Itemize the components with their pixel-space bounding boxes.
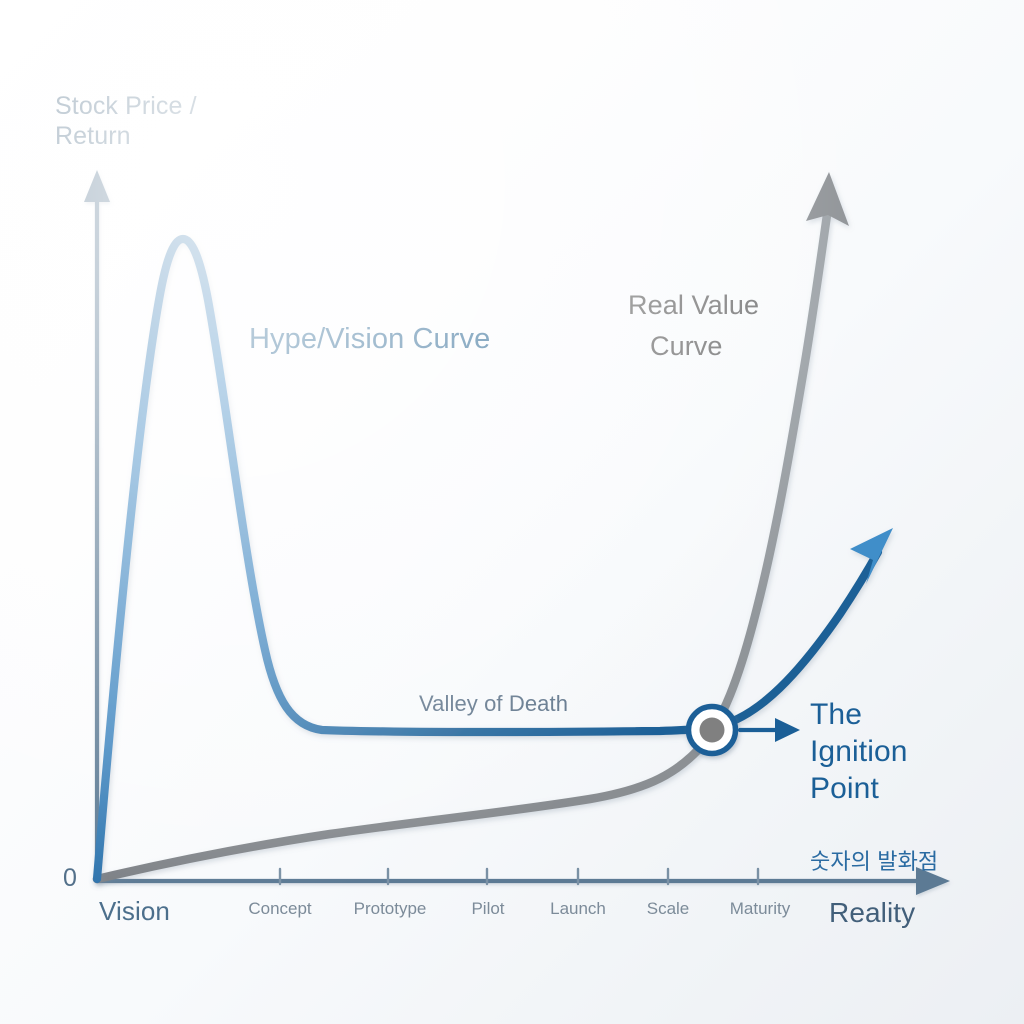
- x-tick-label-scale: Scale: [647, 899, 690, 919]
- ignition-point-annotation: The Ignition Point 숫자의 발화점: [810, 659, 938, 913]
- real-value-curve-label-line1: Real Value: [628, 290, 759, 320]
- real-value-curve: [97, 172, 849, 879]
- x-tick-label-launch: Launch: [550, 899, 606, 919]
- y-axis-title: Stock Price / Return: [55, 92, 197, 151]
- hype-vision-curve-arrowhead: [850, 528, 893, 584]
- x-tick-label-concept: Concept: [248, 899, 311, 919]
- real-value-curve-label: Real ValueCurve: [628, 285, 759, 366]
- origin-zero-label: 0: [63, 864, 77, 894]
- hype-curve-label: Hype/Vision Curve: [249, 322, 490, 356]
- real-value-curve-label-line2: Curve: [628, 326, 759, 367]
- ignition-callout-arrowhead: [775, 718, 800, 742]
- ignition-point-title: The Ignition Point: [810, 697, 938, 808]
- ignition-point-core-dot: [700, 718, 725, 743]
- y-axis-arrowhead: [84, 170, 110, 202]
- x-tick-label-pilot: Pilot: [471, 899, 504, 919]
- ignition-point-marker[interactable]: [689, 707, 736, 754]
- x-tick-label-prototype: Prototype: [354, 899, 427, 919]
- chart-canvas: Stock Price / Return 0 Vision Reality Co…: [0, 0, 1024, 1024]
- x-axis-start-label: Vision: [99, 896, 170, 927]
- ignition-callout-arrow: [740, 718, 800, 742]
- hype-vision-curve: [97, 239, 893, 879]
- ignition-point-subtitle: 숫자의 발화점: [810, 849, 938, 875]
- x-tick-label-maturity: Maturity: [730, 899, 790, 919]
- valley-of-death-label: Valley of Death: [419, 691, 568, 717]
